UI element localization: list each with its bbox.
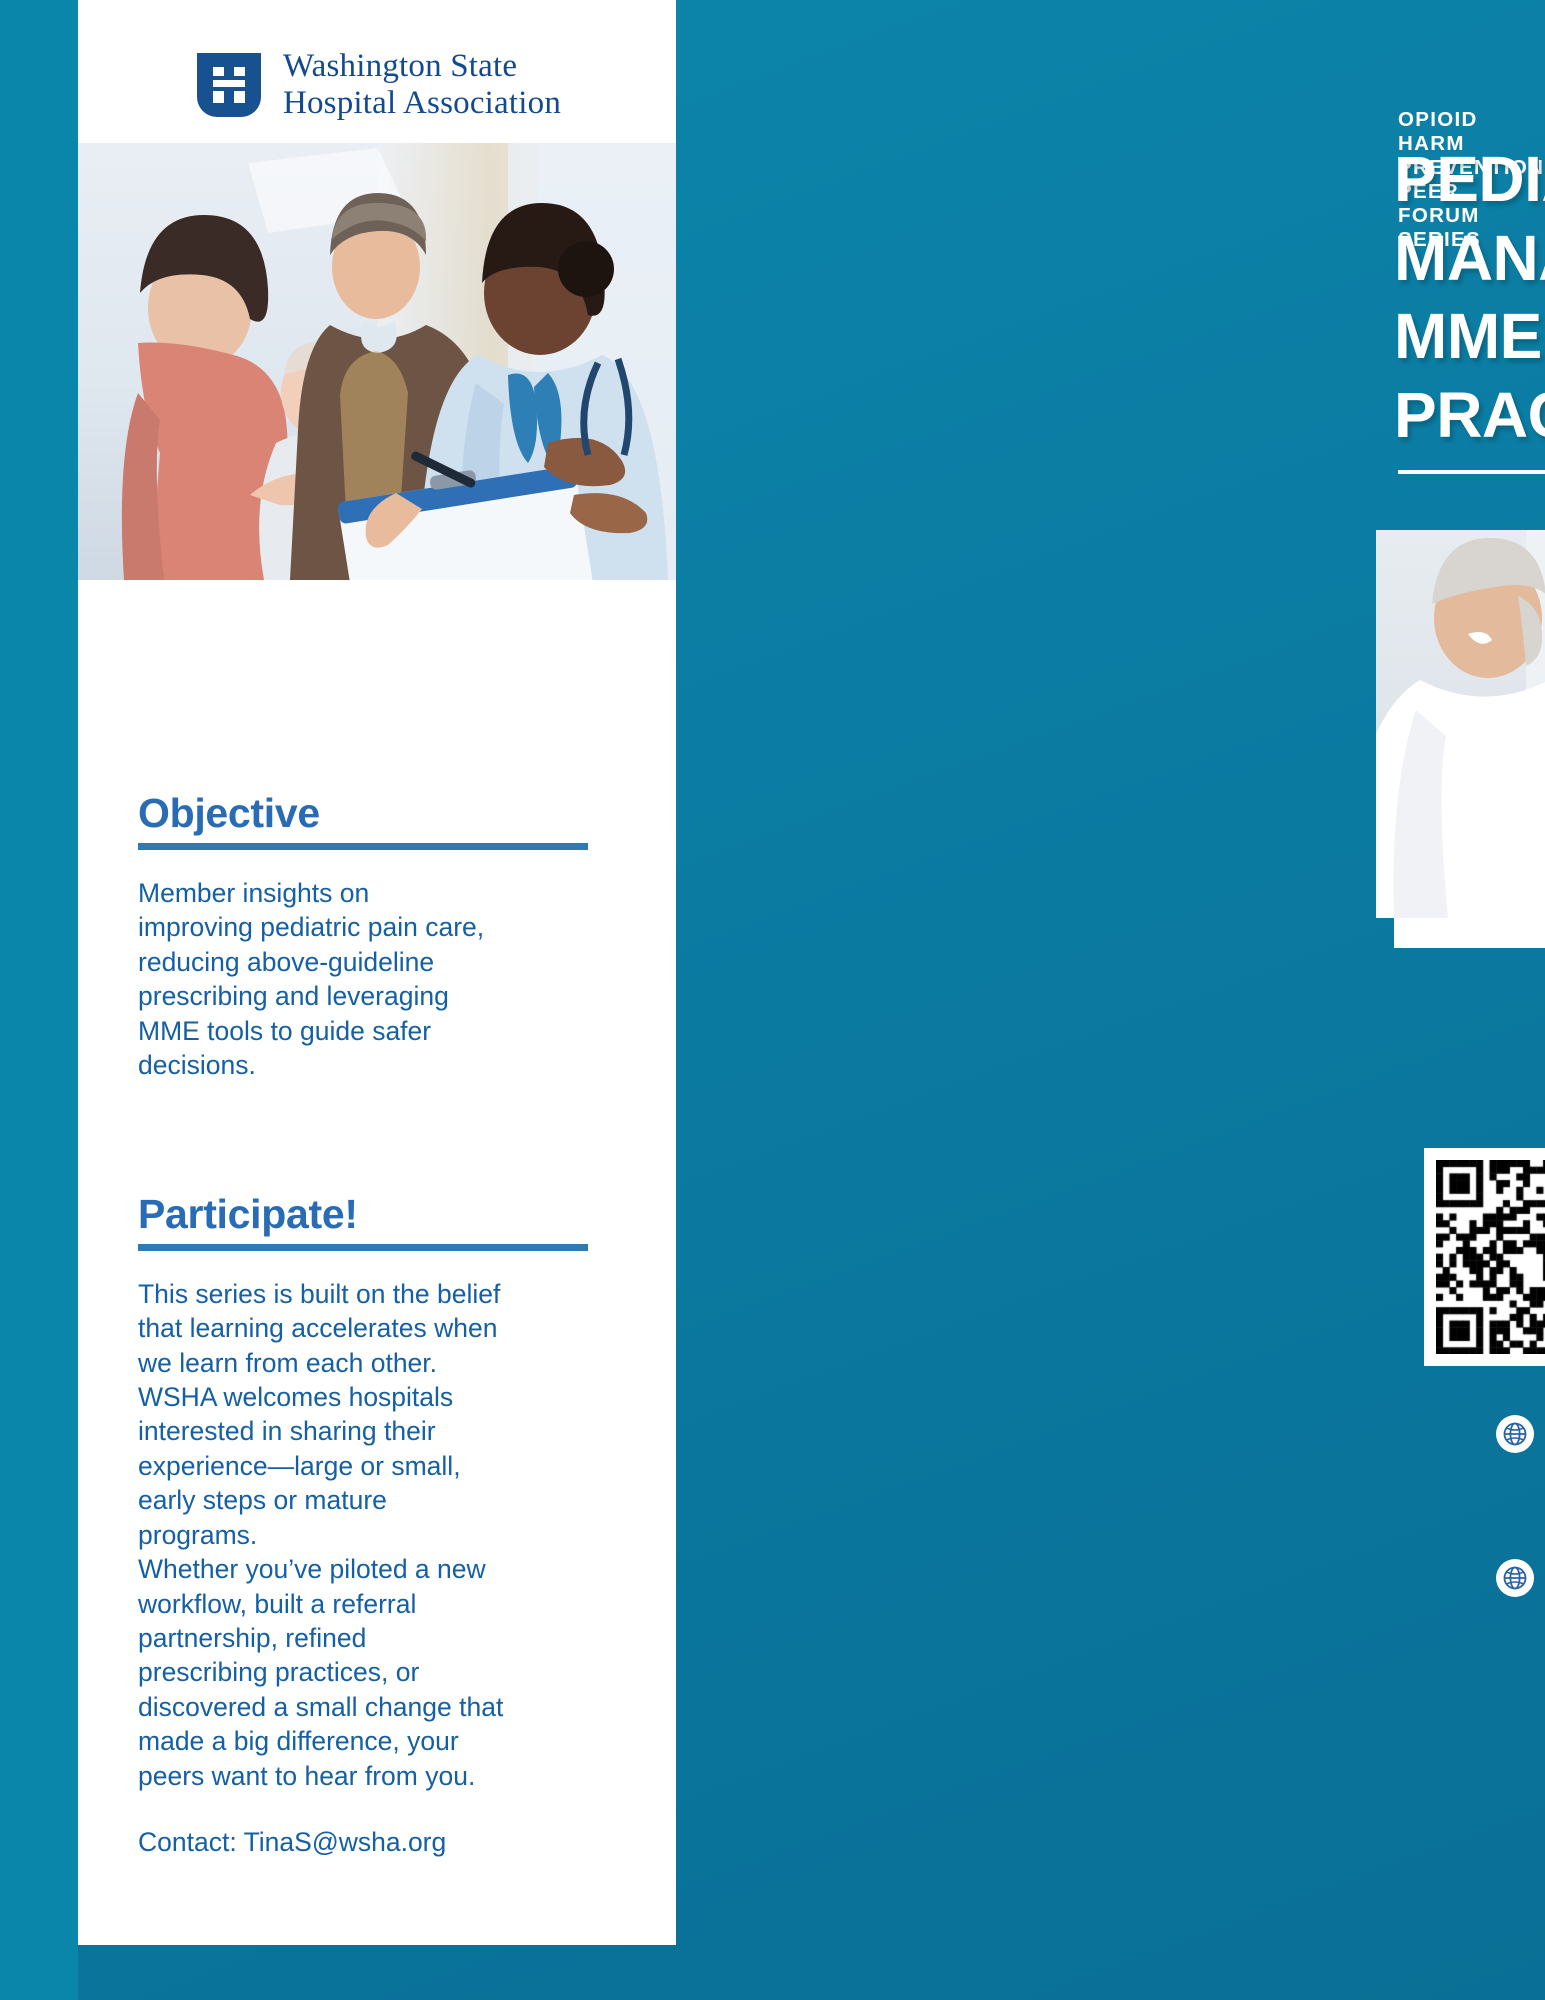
poster-root: Washington State Hospital Association xyxy=(0,0,1545,2000)
family-with-baby-and-nurse-photo xyxy=(78,143,676,580)
objective-heading: Objective xyxy=(138,790,618,837)
participate-heading: Participate! xyxy=(138,1191,618,1238)
contact-email[interactable]: Contact: TinaS@wsha.org xyxy=(138,1827,618,1858)
page-title: PEDIATRIC PAIN MANAGEMENT & MME BEST PRA… xyxy=(1394,140,1545,455)
link-list: Register Here Visit the WSHA Events Webp… xyxy=(1496,1398,1545,1686)
left-teal-rail xyxy=(0,0,78,2000)
registration-qr-code[interactable] xyxy=(1424,1148,1545,1366)
objective-section: Objective Member insights on improving p… xyxy=(138,790,618,1083)
left-text-body: Objective Member insights on improving p… xyxy=(138,790,618,1858)
globe-icon xyxy=(1496,1559,1534,1597)
right-panel: OPIOID HARM PREVENTION PEER FORUM SERIES… xyxy=(676,0,1545,2000)
objective-body: Member insights on improving pediatric p… xyxy=(138,876,618,1083)
participate-section: Participate! This series is built on the… xyxy=(138,1191,618,1859)
org-name: Washington State Hospital Association xyxy=(283,48,561,122)
participate-rule xyxy=(138,1244,588,1251)
wsha-h-logo-icon xyxy=(193,49,265,121)
register-here-link[interactable]: Register Here xyxy=(1496,1398,1545,1470)
objective-rule xyxy=(138,843,588,850)
pediatric-patient-with-doctor-photo xyxy=(1376,530,1545,918)
wsha-events-webpage-link[interactable]: Visit the WSHA Events Webpage xyxy=(1496,1506,1545,1650)
globe-icon xyxy=(1496,1415,1534,1453)
wsha-logo: Washington State Hospital Association xyxy=(78,30,676,140)
participate-body: This series is built on the belief that … xyxy=(138,1277,618,1794)
section-spacer xyxy=(138,1083,618,1191)
title-underline-rule xyxy=(1398,470,1545,474)
